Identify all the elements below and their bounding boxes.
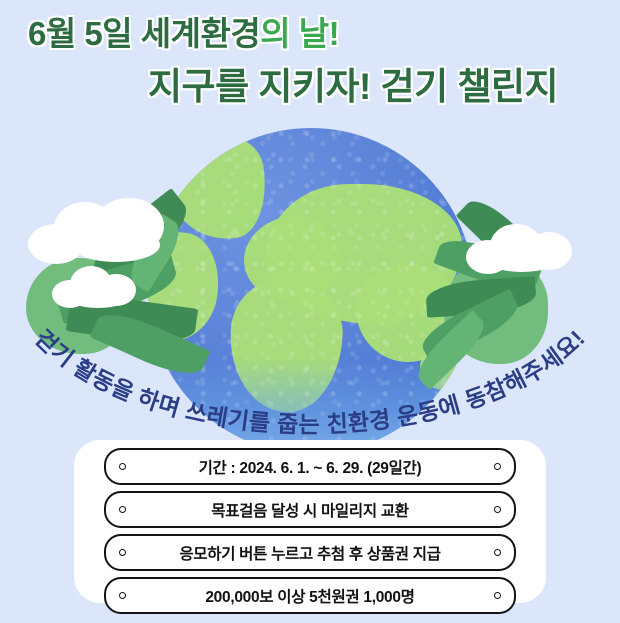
headline-line-2: 지구를 지키자! 걷기 챌린지 (148, 64, 558, 110)
headline-line-1-bright: 의 날! (260, 15, 339, 52)
info-pill-period[interactable]: 기간 : 2024. 6. 1. ~ 6. 29. (29일간) (104, 448, 516, 485)
dot-marker-left-icon (119, 592, 126, 599)
info-card: 기간 : 2024. 6. 1. ~ 6. 29. (29일간) 목표걸음 달성… (74, 440, 546, 603)
bush-shape-left (26, 258, 130, 354)
poster-canvas: 걷기 활동을 하며 쓰레기를 줍는 친환경 운동에 동참해주세요! 6월 5일 … (0, 0, 620, 623)
cloud-puff (52, 280, 88, 308)
headline-line-1: 6월 5일 세계환경의 날! (28, 14, 339, 54)
headline-line-1-dark: 6월 5일 세계환경 (28, 15, 260, 52)
continent-africa (227, 277, 346, 415)
continent-asia (356, 264, 460, 362)
info-pill-reward-label: 200,000보 이상 5천원권 1,000명 (205, 585, 414, 607)
dot-marker-left-icon (119, 549, 126, 556)
cloud-puff (70, 266, 112, 302)
dot-marker-right-icon (494, 506, 501, 513)
continent-south-america (148, 228, 224, 346)
cloud-puff (72, 228, 160, 262)
cloud-puff (96, 274, 136, 306)
cloud-puff (484, 244, 560, 272)
cloud-puff (66, 284, 130, 308)
dot-marker-left-icon (119, 506, 126, 513)
info-pill-entry[interactable]: 응모하기 버튼 누르고 추첨 후 상품권 지급 (104, 534, 516, 571)
cloud-puff (28, 224, 84, 264)
info-pill-period-label: 기간 : 2024. 6. 1. ~ 6. 29. (29일간) (199, 456, 422, 478)
cloud-puff (526, 232, 572, 270)
dot-marker-left-icon (119, 463, 126, 470)
earth-sphere (148, 128, 474, 454)
info-pill-reward[interactable]: 200,000보 이상 5천원권 1,000명 (104, 577, 516, 614)
continent-eurasia (266, 184, 462, 324)
continent-north-america (163, 130, 273, 246)
info-pill-entry-label: 응모하기 버튼 누르고 추첨 후 상품권 지급 (179, 542, 440, 564)
cloud-right (466, 224, 574, 276)
cloud-left-small (52, 266, 140, 308)
info-pill-mileage[interactable]: 목표걸음 달성 시 마일리지 교환 (104, 491, 516, 528)
dot-marker-right-icon (494, 592, 501, 599)
continent-europe (240, 211, 344, 307)
dot-marker-right-icon (494, 549, 501, 556)
leaf-cluster-right (452, 222, 620, 402)
info-pill-mileage-label: 목표걸음 달성 시 마일리지 교환 (211, 499, 409, 521)
info-pill-list: 기간 : 2024. 6. 1. ~ 6. 29. (29일간) 목표걸음 달성… (74, 440, 546, 620)
earth-globe (148, 128, 474, 428)
dot-marker-right-icon (494, 463, 501, 470)
cloud-puff (54, 202, 116, 254)
cloud-puff (490, 224, 542, 268)
cloud-left-large (28, 198, 168, 264)
